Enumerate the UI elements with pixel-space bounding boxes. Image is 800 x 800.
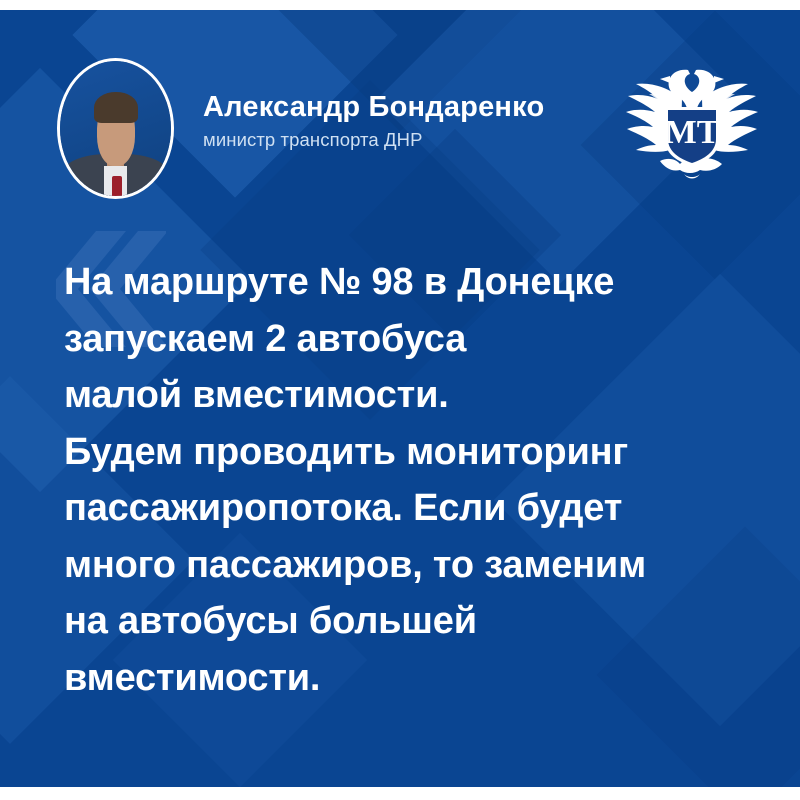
- card-background-panel: Александр Бондаренко министр транспорта …: [0, 10, 800, 787]
- person-name: Александр Бондаренко: [203, 92, 544, 122]
- person-role: министр транспорта ДНР: [203, 129, 544, 151]
- quote-line: малой вместимости.: [64, 367, 754, 424]
- speaker-identity: Александр Бондаренко министр транспорта …: [203, 92, 544, 151]
- quote-line: пассажиропотока. Если будет: [64, 480, 754, 537]
- avatar: [57, 58, 174, 199]
- quote-line: вместимости.: [64, 650, 754, 707]
- quote-text: На маршруте № 98 в Донецке запускаем 2 а…: [64, 254, 754, 706]
- double-headed-eagle-emblem-icon: MT: [618, 58, 766, 188]
- card-header: Александр Бондаренко министр транспорта …: [0, 10, 800, 210]
- quote-line: много пассажиров, то заменим: [64, 537, 754, 594]
- quote-card: Александр Бондаренко министр транспорта …: [0, 0, 800, 800]
- emblem-shield-text: MT: [665, 114, 720, 151]
- quote-line: На маршруте № 98 в Донецке: [64, 254, 754, 311]
- quote-line: Будем проводить мониторинг: [64, 424, 754, 481]
- person-portrait-icon: [60, 61, 171, 196]
- quote-line: на автобусы большей: [64, 593, 754, 650]
- quote-line: запускаем 2 автобуса: [64, 311, 754, 368]
